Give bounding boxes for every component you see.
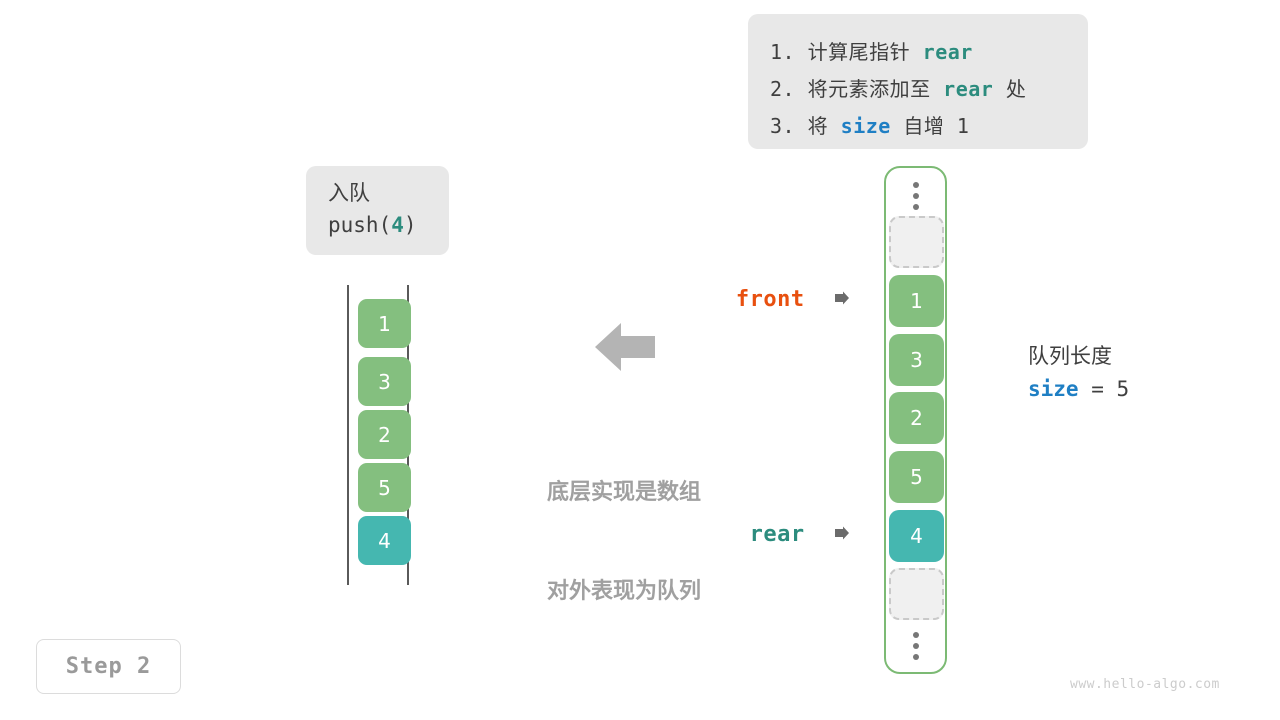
rear-pointer-arrow-icon (814, 506, 850, 563)
queue-rail-left (347, 285, 349, 585)
instruction-line-3-suffix: 自增 1 (891, 114, 970, 138)
instruction-line-2-prefix: 2. 将元素添加至 (770, 77, 943, 101)
instruction-line-2: 2. 将元素添加至 rear 处 (770, 71, 1088, 108)
array-slot: 2 (889, 392, 944, 444)
front-pointer-label: front (736, 287, 805, 312)
array-slot: 1 (889, 275, 944, 327)
array-slot: 4 (889, 510, 944, 562)
instruction-line-2-suffix: 处 (993, 77, 1026, 101)
push-call-arg: 4 (391, 213, 404, 237)
instruction-line-2-token: rear (943, 77, 993, 101)
ellipsis-top-icon (886, 176, 945, 216)
instruction-line-1-prefix: 1. 计算尾指针 (770, 40, 923, 64)
center-caption-line-1: 底层实现是数组 (500, 476, 748, 509)
array-slot: 3 (889, 334, 944, 386)
front-pointer-arrow-icon (814, 271, 850, 328)
instruction-line-3-token: size (841, 114, 891, 138)
size-annotation: 队列长度 size = 5 (1028, 340, 1248, 406)
instruction-line-3: 3. 将 size 自增 1 (770, 108, 1088, 145)
size-equals: = (1079, 377, 1117, 401)
queue-abstract-view: 1 3 2 5 4 (340, 285, 415, 585)
size-annotation-title: 队列长度 (1028, 340, 1248, 372)
instruction-line-3-prefix: 3. 将 (770, 114, 841, 138)
center-caption-line-2: 对外表现为队列 (500, 575, 748, 608)
queue-cell: 1 (358, 299, 411, 348)
queue-cell: 2 (358, 410, 411, 459)
size-variable-name: size (1028, 377, 1079, 401)
push-box-title: 入队 (328, 178, 449, 209)
left-arrow-icon (594, 320, 656, 374)
push-call-prefix: push( (328, 213, 391, 237)
step-badge: Step 2 (36, 639, 181, 694)
instruction-line-1: 1. 计算尾指针 rear (770, 34, 1088, 71)
front-pointer: front (700, 284, 850, 314)
push-box-call: push(4) (328, 209, 449, 242)
rear-pointer: rear (700, 519, 850, 549)
queue-cell: 5 (358, 463, 411, 512)
queue-cell: 4 (358, 516, 411, 565)
array-container: 1 3 2 5 4 (884, 166, 947, 674)
push-call-suffix: ) (404, 213, 417, 237)
array-slot: 5 (889, 451, 944, 503)
instruction-line-1-token: rear (923, 40, 973, 64)
watermark: www.hello-algo.com (1070, 677, 1220, 692)
size-annotation-value: size = 5 (1028, 372, 1248, 406)
ellipsis-bottom-icon (886, 626, 945, 666)
array-slot-empty (889, 568, 944, 620)
queue-cell: 3 (358, 357, 411, 406)
array-slot-empty (889, 216, 944, 268)
size-value: 5 (1117, 377, 1130, 401)
rear-pointer-label: rear (750, 522, 805, 547)
push-operation-box: 入队 push(4) (306, 166, 449, 255)
instruction-box: 1. 计算尾指针 rear 2. 将元素添加至 rear 处 3. 将 size… (748, 14, 1088, 149)
